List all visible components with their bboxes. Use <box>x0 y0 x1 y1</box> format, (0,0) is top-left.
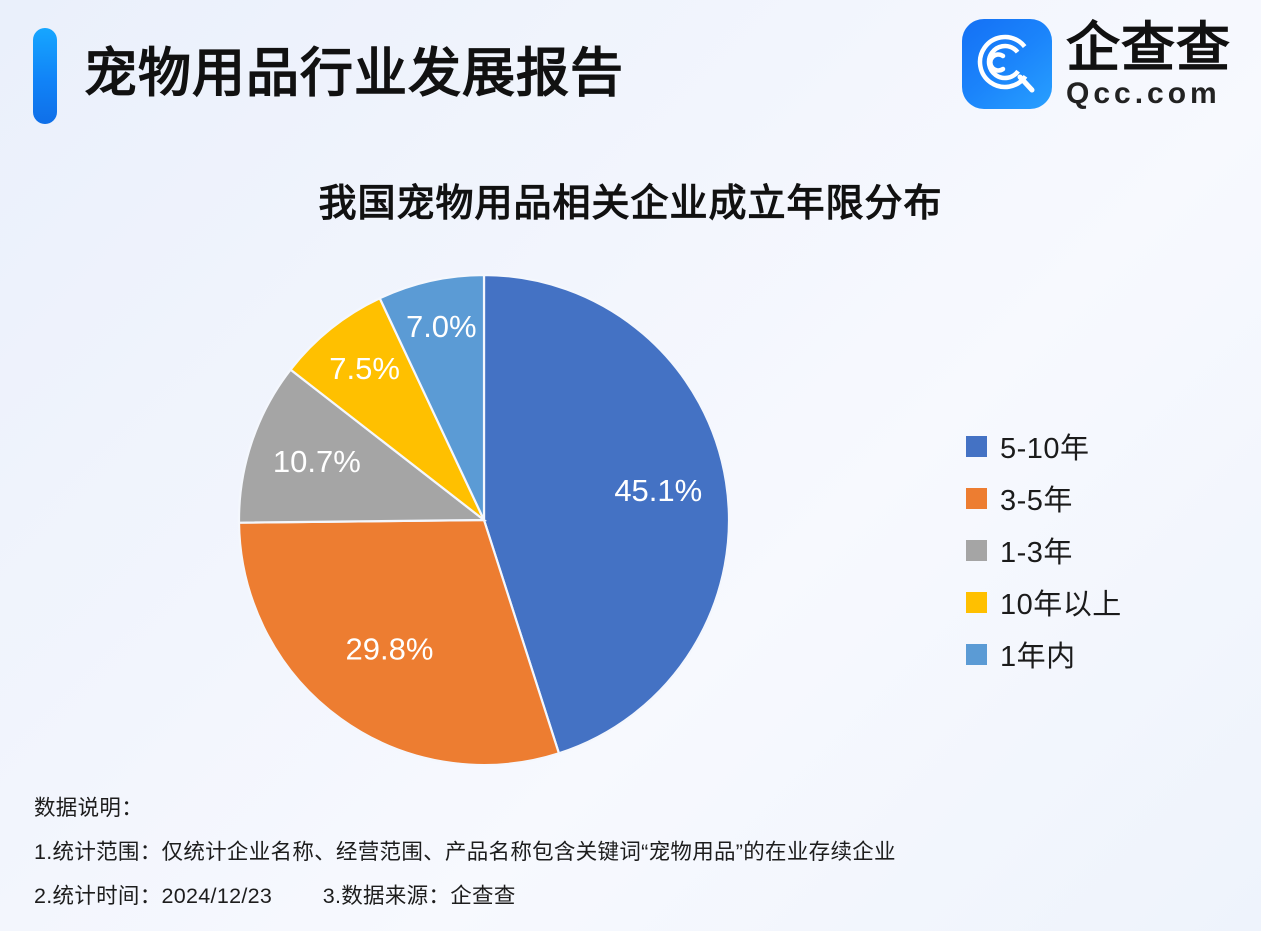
qcc-logo-icon <box>962 19 1052 109</box>
legend-swatch-icon <box>966 644 987 665</box>
pie-slice-label: 29.8% <box>345 631 433 666</box>
brand-name-cn: 企查查 <box>1066 19 1231 77</box>
notes-statistic-time: 2.统计时间：2024/12/23 <box>34 884 272 908</box>
legend-item-1[interactable]: 3-5年 <box>966 472 1206 524</box>
notes-line-scope: 1.统计范围：仅统计企业名称、经营范围、产品名称包含关键词“宠物用品”的在业存续… <box>34 830 1134 874</box>
chart-title: 我国宠物用品相关企业成立年限分布 <box>0 172 1261 227</box>
pie-slice-label: 45.1% <box>614 473 702 508</box>
pie-chart: 45.1%29.8%10.7%7.5%7.0% <box>236 272 732 768</box>
pie-slices <box>239 275 729 765</box>
brand-wordmark: 企查查 Qcc.com <box>1066 19 1231 109</box>
legend-label: 5-10年 <box>1000 425 1090 467</box>
legend-swatch-icon <box>966 436 987 457</box>
legend-item-3[interactable]: 10年以上 <box>966 576 1206 628</box>
notes-line-time-source: 2.统计时间：2024/12/23 3.数据来源：企查查 <box>34 874 1134 918</box>
legend-item-2[interactable]: 1-3年 <box>966 524 1206 576</box>
legend-swatch-icon <box>966 592 987 613</box>
pie-slice-label: 7.5% <box>329 351 400 386</box>
page-title: 宠物用品行业发展报告 <box>84 26 624 122</box>
legend-item-4[interactable]: 1年内 <box>966 628 1206 680</box>
legend-swatch-icon <box>966 540 987 561</box>
legend-label: 1-3年 <box>1000 529 1073 571</box>
legend-label: 1年内 <box>1000 633 1076 675</box>
pie-slice-label: 7.0% <box>406 309 477 344</box>
legend-item-0[interactable]: 5-10年 <box>966 420 1206 472</box>
legend-label: 10年以上 <box>1000 581 1122 623</box>
brand-logo: 企查查 Qcc.com <box>962 19 1231 109</box>
notes-heading: 数据说明： <box>34 786 1134 830</box>
brand-name-en: Qcc.com <box>1066 79 1231 109</box>
pie-slice-label: 10.7% <box>273 444 361 479</box>
page-header: 宠物用品行业发展报告 企查查 Qcc.com <box>0 0 1261 140</box>
data-notes: 数据说明： 1.统计范围：仅统计企业名称、经营范围、产品名称包含关键词“宠物用品… <box>34 786 1134 918</box>
chart-legend: 5-10年 3-5年 1-3年 10年以上 1年内 <box>966 420 1206 680</box>
legend-swatch-icon <box>966 488 987 509</box>
pie-chart-svg: 45.1%29.8%10.7%7.5%7.0% <box>236 272 732 768</box>
legend-label: 3-5年 <box>1000 477 1073 519</box>
title-accent-bar <box>33 28 57 124</box>
notes-data-source: 3.数据来源：企查查 <box>323 884 516 908</box>
